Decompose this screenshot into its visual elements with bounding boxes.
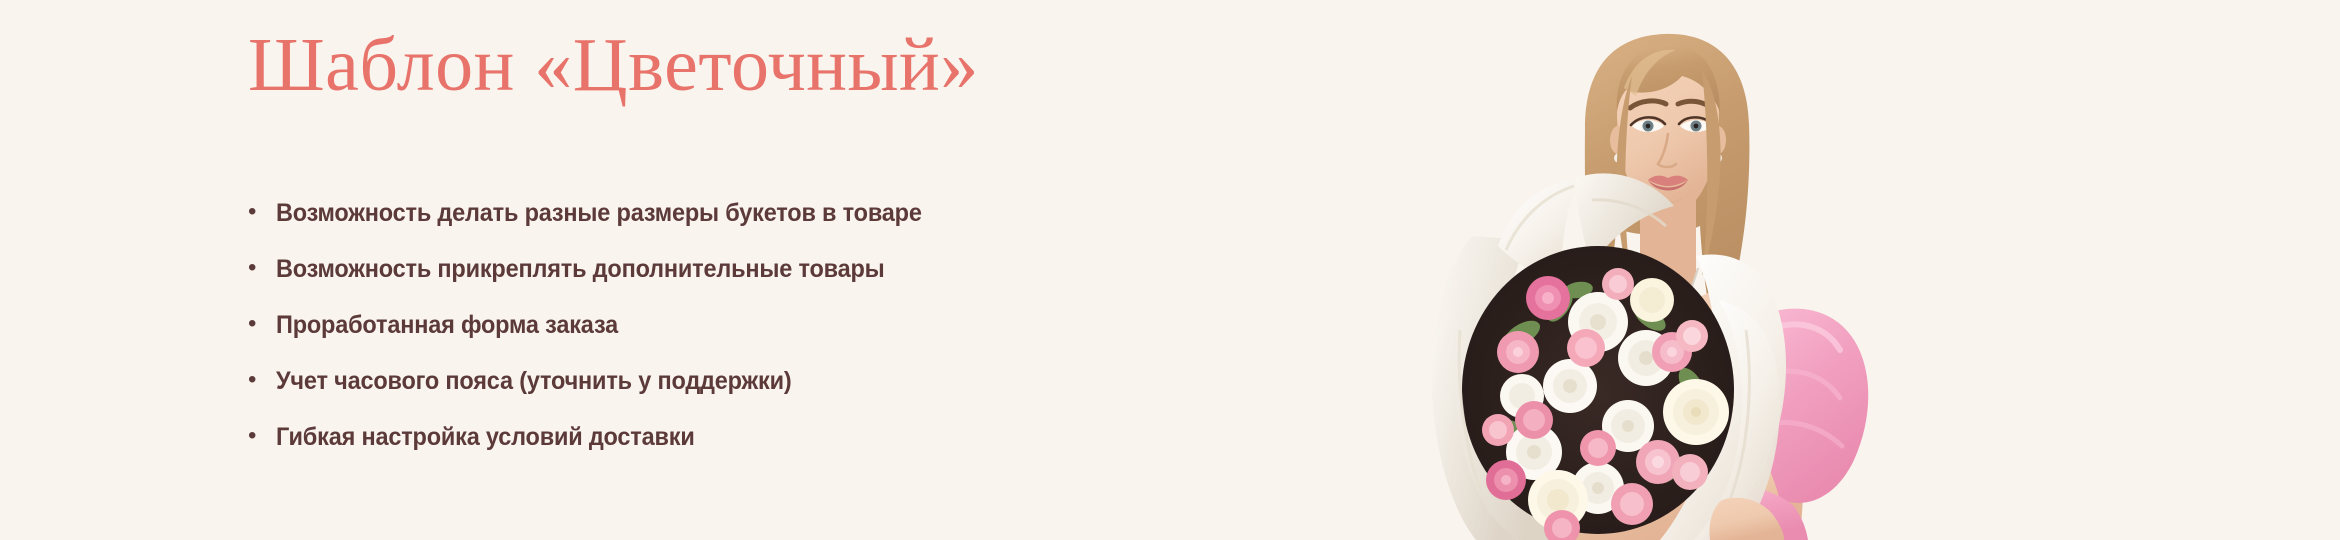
photo-illustration	[1402, 0, 2232, 540]
feature-label: Учет часового пояса (уточнить у поддержк…	[276, 366, 791, 396]
list-item: • Проработанная форма заказа	[248, 310, 963, 366]
list-item: • Учет часового пояса (уточнить у поддер…	[248, 366, 963, 422]
feature-label: Гибкая настройка условий доставки	[276, 422, 695, 452]
bullet-icon: •	[248, 368, 276, 392]
flower-template-banner: Шаблон «Цветочный» • Возможность делать …	[0, 0, 2340, 540]
feature-list: • Возможность делать разные размеры буке…	[248, 198, 963, 478]
list-item: • Гибкая настройка условий доставки	[248, 422, 963, 478]
bullet-icon: •	[248, 200, 276, 224]
banner-content: Шаблон «Цветочный» • Возможность делать …	[248, 0, 1398, 540]
bullet-icon: •	[248, 312, 276, 336]
bullet-icon: •	[248, 256, 276, 280]
feature-label: Возможность прикреплять дополнительные т…	[276, 254, 885, 284]
model-with-bouquet-photo	[1402, 0, 2232, 540]
feature-label: Проработанная форма заказа	[276, 310, 618, 340]
feature-label: Возможность делать разные размеры букето…	[276, 198, 922, 228]
bullet-icon: •	[248, 424, 276, 448]
list-item: • Возможность прикреплять дополнительные…	[248, 254, 963, 310]
page-title: Шаблон «Цветочный»	[248, 27, 979, 103]
list-item: • Возможность делать разные размеры буке…	[248, 198, 963, 254]
